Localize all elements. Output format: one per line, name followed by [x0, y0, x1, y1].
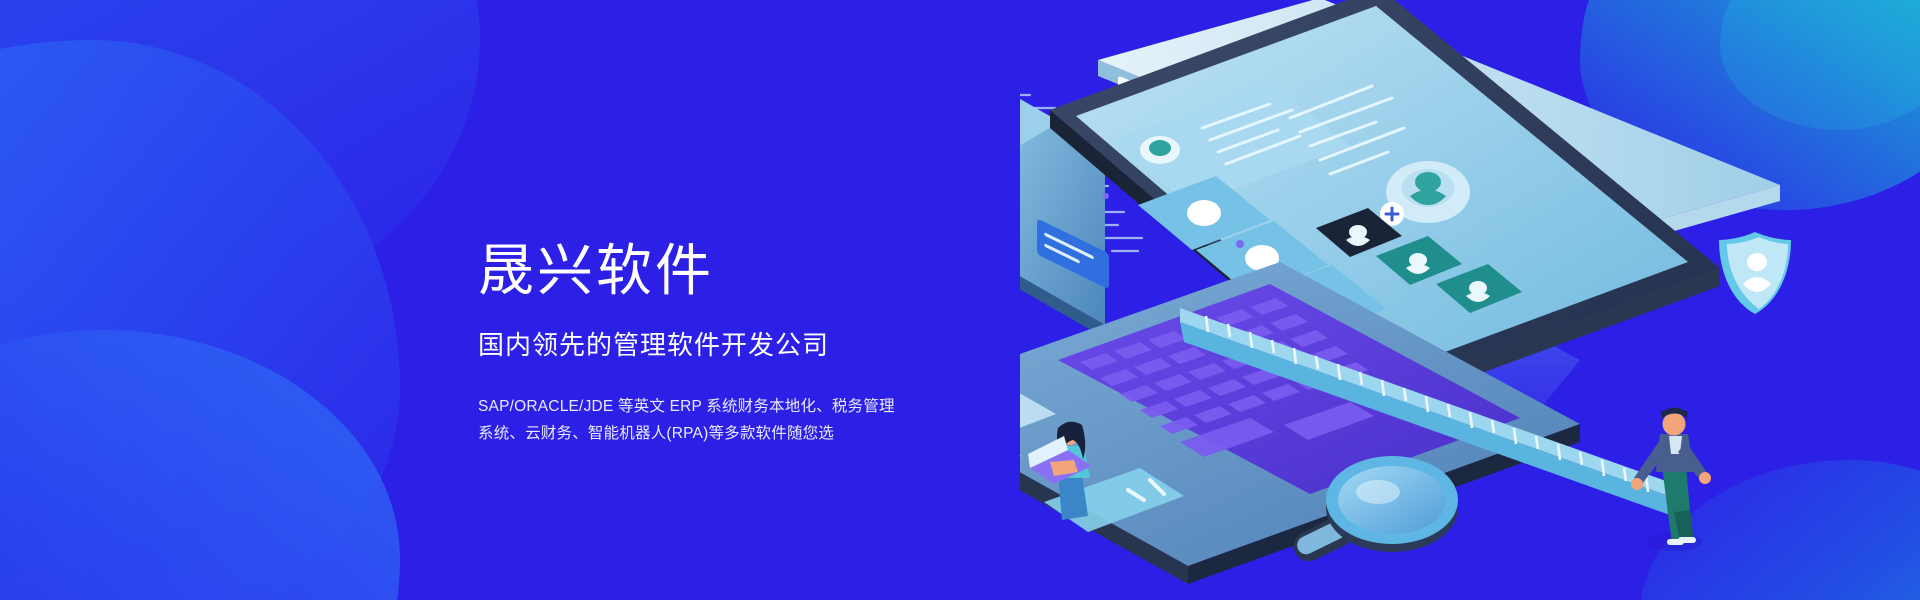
- page-title: 晟兴软件: [478, 240, 998, 303]
- hero-banner: 晟兴软件 国内领先的管理软件开发公司 SAP/ORACLE/JDE 等英文 ER…: [0, 0, 1920, 600]
- isometric-artwork: www.: [1020, 0, 1920, 600]
- hero-subtitle: 国内领先的管理软件开发公司: [478, 329, 998, 363]
- hero-illustration: www.: [1020, 0, 1920, 600]
- shield-user-icon: [1719, 232, 1791, 314]
- hero-description: SAP/ORACLE/JDE 等英文 ERP 系统财务本地化、税务管理系统、云财…: [478, 393, 908, 448]
- person-with-ruler: [1631, 408, 1711, 552]
- hero-copy: 晟兴软件 国内领先的管理软件开发公司 SAP/ORACLE/JDE 等英文 ER…: [478, 240, 998, 448]
